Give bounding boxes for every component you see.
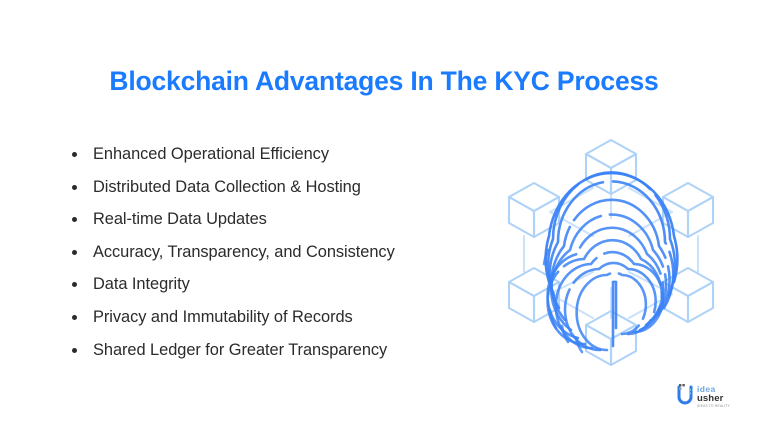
bullet-dot-icon [72, 152, 77, 157]
list-item: Accuracy, Transparency, and Consistency [72, 241, 502, 274]
brand-logo: idea usher IDEAS TO REALITY [676, 382, 746, 410]
list-item-label: Privacy and Immutability of Records [93, 306, 502, 328]
list-item-label: Data Integrity [93, 273, 502, 295]
brand-logo-word-bottom: usher [697, 394, 746, 404]
node-cube-bottom [586, 311, 636, 365]
list-item: Distributed Data Collection & Hosting [72, 176, 502, 209]
list-item-label: Accuracy, Transparency, and Consistency [93, 241, 502, 263]
brand-logo-tagline: IDEAS TO REALITY [697, 404, 746, 409]
bullet-dot-icon [72, 315, 77, 320]
list-item-label: Enhanced Operational Efficiency [93, 143, 502, 165]
list-item-label: Distributed Data Collection & Hosting [93, 176, 502, 198]
bullet-dot-icon [72, 185, 77, 190]
page-title: Blockchain Advantages In The KYC Process [0, 64, 768, 98]
list-item: Real-time Data Updates [72, 208, 502, 241]
bullet-dot-icon [72, 348, 77, 353]
list-item: Shared Ledger for Greater Transparency [72, 339, 502, 372]
list-item: Data Integrity [72, 273, 502, 306]
list-item-label: Shared Ledger for Greater Transparency [93, 339, 502, 361]
bullet-dot-icon [72, 282, 77, 287]
u-mark-icon [676, 384, 694, 408]
fingerprint-icon [544, 172, 677, 352]
brand-logo-wordmark: idea usher IDEAS TO REALITY [697, 384, 746, 409]
blockchain-fingerprint-illustration [492, 132, 730, 370]
list-item-label: Real-time Data Updates [93, 208, 502, 230]
list-item: Privacy and Immutability of Records [72, 306, 502, 339]
slide-canvas: Blockchain Advantages In The KYC Process… [0, 0, 768, 432]
bullet-dot-icon [72, 217, 77, 222]
bullet-dot-icon [72, 250, 77, 255]
advantages-list: Enhanced Operational Efficiency Distribu… [72, 143, 502, 371]
list-item: Enhanced Operational Efficiency [72, 143, 502, 176]
